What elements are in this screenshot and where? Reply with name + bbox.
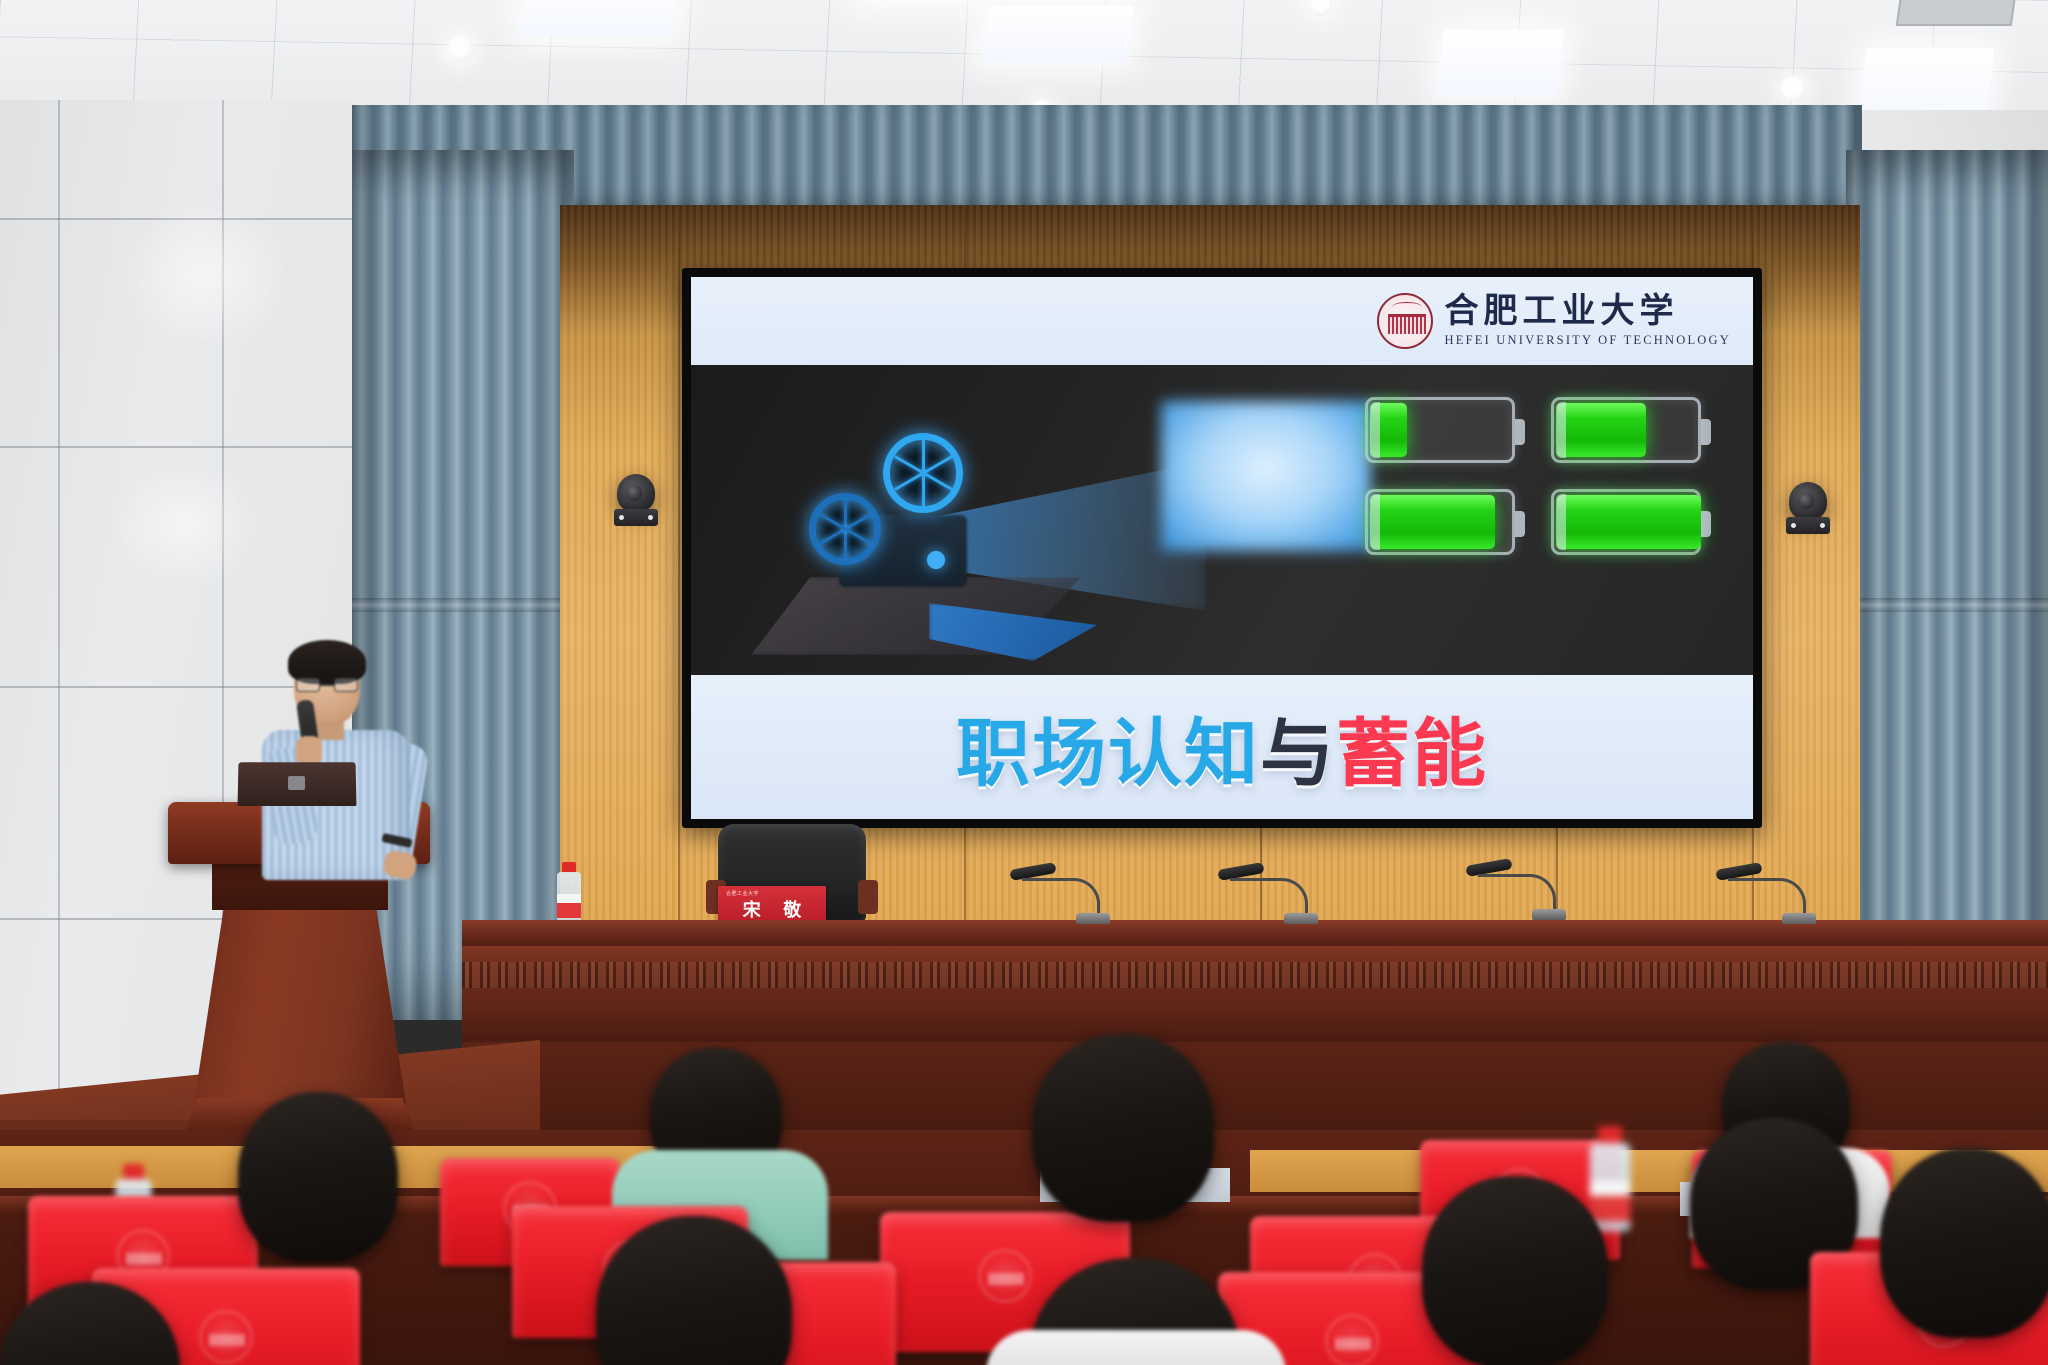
- stage-table-fretwork-trim: [462, 962, 2048, 988]
- slide-photo-band: [691, 365, 1753, 675]
- lecture-hall-scene: 合肥工业大学 HEFEI UNIVERSITY OF TECHNOLOGY: [0, 0, 2048, 1365]
- film-reel-rear-icon: [809, 493, 881, 565]
- battery-icon-3: [1365, 489, 1515, 555]
- chair-arm: [858, 880, 878, 914]
- ceiling-panel-light: [981, 6, 1134, 62]
- presentation-slide: 合肥工业大学 HEFEI UNIVERSITY OF TECHNOLOGY: [691, 277, 1753, 819]
- camera-led: [619, 515, 624, 520]
- audience-water-bottle: [1588, 1126, 1632, 1231]
- slide-header-band: 合肥工业大学 HEFEI UNIVERSITY OF TECHNOLOGY: [691, 277, 1753, 365]
- microphone-base: [1782, 913, 1816, 924]
- bottle-label: [1590, 1180, 1631, 1221]
- table-microphone-1: [1010, 866, 1130, 924]
- battery-icon-2: [1551, 397, 1701, 463]
- slide-title-part-1: 职场认知: [956, 711, 1260, 797]
- curtain-seam: [1846, 598, 2048, 612]
- camera-lens-icon: [1798, 493, 1814, 509]
- table-microphone-3: [1466, 862, 1586, 920]
- university-logo: 合肥工业大学 HEFEI UNIVERSITY OF TECHNOLOGY: [1377, 293, 1731, 349]
- water-bottle-stage: [556, 862, 582, 924]
- laptop-logo-icon: [288, 776, 305, 790]
- battery-terminal: [1556, 402, 1566, 458]
- table-microphone-4: [1716, 866, 1836, 924]
- camera-led: [1820, 523, 1825, 528]
- battery-terminal: [1370, 402, 1380, 458]
- projected-screen-glow: [1161, 401, 1371, 551]
- ceiling-vent: [1896, 0, 2016, 26]
- seat-university-seal-icon: [200, 1311, 252, 1363]
- wall-seam: [58, 100, 60, 1100]
- projector-lens-icon: [927, 551, 945, 569]
- audience-head: [238, 1092, 398, 1262]
- audience-head: [1032, 1034, 1214, 1222]
- battery-fill: [1557, 403, 1646, 457]
- audience-head: [1880, 1148, 2048, 1338]
- seat-university-seal-icon: [979, 1250, 1031, 1302]
- table-microphone-2: [1218, 866, 1338, 924]
- microphone-base: [1076, 913, 1110, 924]
- camera-led: [1791, 523, 1796, 528]
- placard-name: 宋 敬: [734, 896, 811, 922]
- ceiling-downlight: [1780, 76, 1806, 102]
- wall-light-reflection: [110, 460, 260, 590]
- ceiling-downlight: [447, 36, 473, 62]
- led-display-bezel: 合肥工业大学 HEFEI UNIVERSITY OF TECHNOLOGY: [682, 268, 1762, 828]
- ptz-camera-left: [614, 474, 658, 530]
- film-reel-front-icon: [883, 433, 963, 513]
- glasses-icon: [296, 678, 358, 692]
- camera-led: [648, 515, 653, 520]
- battery-terminal: [1556, 494, 1566, 550]
- stage-curtain-right: [1846, 150, 2048, 1030]
- slide-title-part-2: 与: [1260, 711, 1336, 797]
- ceiling-panel-light: [521, 0, 679, 36]
- bottle-cap: [1598, 1126, 1622, 1145]
- stage-table-front: [462, 946, 2048, 1042]
- university-name-cn: 合肥工业大学: [1445, 294, 1731, 330]
- podium-column: [194, 908, 406, 1104]
- battery-terminal: [1370, 494, 1380, 550]
- microphone-base: [1532, 909, 1566, 920]
- curtain-seam: [352, 598, 574, 612]
- battery-charge-group: [1365, 397, 1701, 555]
- university-name-en: HEFEI UNIVERSITY OF TECHNOLOGY: [1445, 333, 1731, 348]
- camera-lens-icon: [626, 485, 642, 501]
- slide-title-area: 职场认知与蓄能: [691, 675, 1753, 819]
- university-seal-icon: [1377, 293, 1433, 349]
- microphone-base: [1284, 913, 1318, 924]
- audience-shoulders: [986, 1330, 1286, 1365]
- slide-title-part-3: 蓄能: [1336, 711, 1488, 797]
- battery-icon-1: [1365, 397, 1515, 463]
- wood-panel-joint: [678, 205, 680, 925]
- ptz-camera-right: [1786, 482, 1830, 538]
- presenter-laptop[interactable]: [238, 762, 357, 806]
- audience-head: [1422, 1176, 1608, 1365]
- wall-light-reflection: [120, 200, 290, 350]
- wall-seam: [0, 446, 352, 448]
- ceiling-panel-light: [1436, 30, 1564, 96]
- seat-university-seal-icon: [1326, 1315, 1378, 1365]
- battery-fill: [1557, 495, 1701, 549]
- bottle-label: [557, 894, 581, 918]
- battery-icon-4: [1551, 489, 1701, 555]
- slide-title: 职场认知与蓄能: [956, 694, 1488, 801]
- battery-fill: [1371, 495, 1495, 549]
- placard-subtitle: 合肥工业大学: [726, 890, 759, 897]
